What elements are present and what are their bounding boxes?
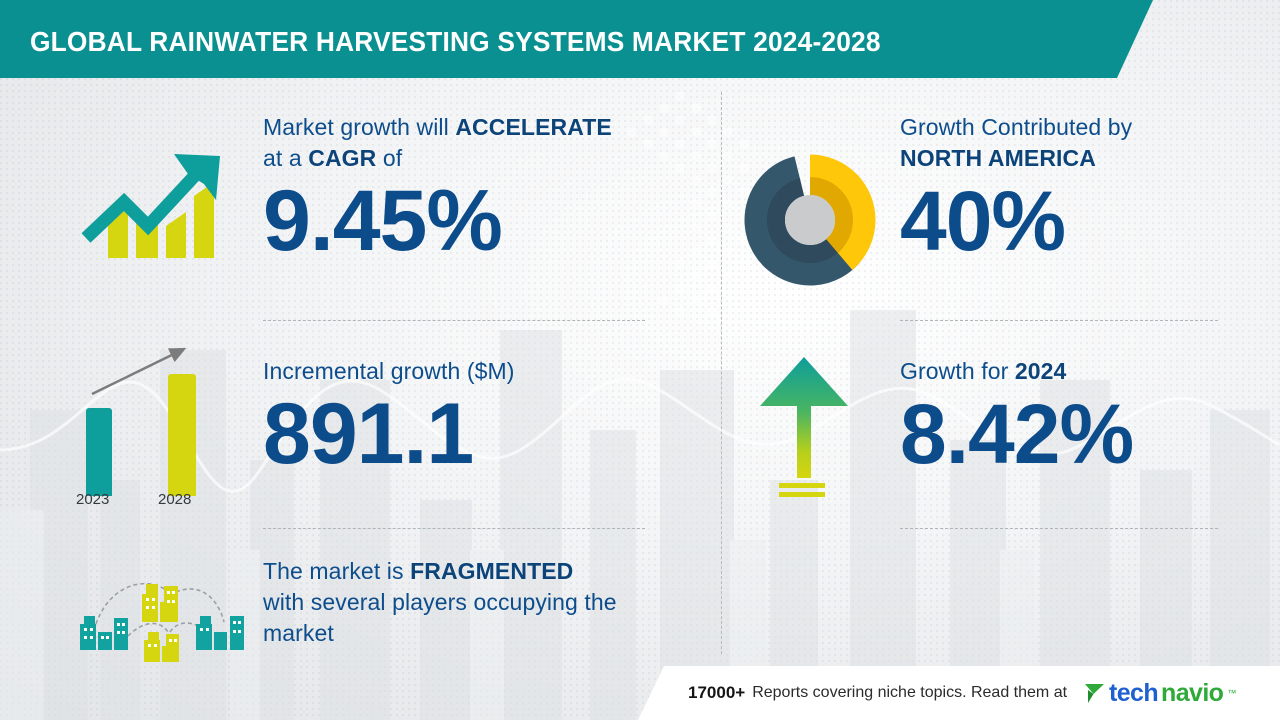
yearly-text-block: Growth for 2024 8.42% (900, 356, 1260, 479)
technavio-mark-icon (1084, 681, 1106, 705)
page-title: GLOBAL RAINWATER HARVESTING SYSTEMS MARK… (30, 26, 881, 58)
infographic-poster: GLOBAL RAINWATER HARVESTING SYSTEMS MARK… (0, 0, 1280, 720)
up-arrow-icon (752, 350, 872, 500)
cagr-label-line2-pre: at a (263, 145, 308, 171)
yearly-label-year: 2024 (1015, 358, 1067, 384)
vertical-divider (721, 92, 722, 654)
footer-report-count: 17000+ (688, 683, 745, 703)
city-cluster-icon (72, 558, 247, 663)
cagr-label: Market growth will ACCELERATE at a CAGR … (263, 112, 663, 174)
header-banner: GLOBAL RAINWATER HARVESTING SYSTEMS MARK… (0, 0, 1117, 78)
cagr-label-line2-post: of (376, 145, 402, 171)
technavio-logo[interactable]: technavio™ (1084, 681, 1236, 706)
right-column: Growth Contributed by NORTH AMERICA 40% (722, 78, 1280, 666)
fragmentation-bold: FRAGMENTED (410, 558, 573, 584)
content-area: Market growth will ACCELERATE at a CAGR … (0, 78, 1280, 666)
region-value: 40% (900, 176, 1260, 266)
bar-label-2023: 2023 (76, 491, 109, 508)
region-label: Growth Contributed by NORTH AMERICA (900, 112, 1260, 174)
fragmentation-label: The market is FRAGMENTED with several pl… (263, 556, 683, 649)
cagr-value: 9.45% (263, 176, 663, 266)
yearly-value: 8.42% (900, 389, 1260, 479)
footer: 17000+ Reports covering niche topics. Re… (0, 666, 1280, 720)
logo-text-navio: navio (1161, 681, 1223, 706)
region-label-north-america: NORTH AMERICA (900, 145, 1096, 171)
footer-text: Reports covering niche topics. Read them… (752, 684, 1067, 702)
yearly-label-pre: Growth for (900, 358, 1015, 384)
logo-text-tech: tech (1109, 681, 1158, 706)
footer-corner (638, 666, 664, 720)
fragmentation-line3: market (263, 620, 334, 646)
bar-label-2028: 2028 (158, 491, 191, 508)
growth-chart-icon (70, 130, 240, 280)
fragmentation-text-block: The market is FRAGMENTED with several pl… (263, 556, 683, 649)
banner-fold-corner (1117, 0, 1153, 78)
bar-chart-icon: 2023 2028 (60, 336, 245, 496)
left-column: Market growth will ACCELERATE at a CAGR … (0, 78, 722, 666)
cagr-label-pre: Market growth will (263, 114, 455, 140)
incremental-value: 891.1 (263, 389, 663, 479)
cagr-label-cagr: CAGR (308, 145, 376, 171)
yearly-label: Growth for 2024 (900, 356, 1260, 387)
donut-chart-icon (740, 150, 880, 290)
logo-trademark: ™ (1227, 688, 1236, 698)
region-text-block: Growth Contributed by NORTH AMERICA 40% (900, 112, 1260, 266)
incremental-label: Incremental growth ($M) (263, 356, 663, 387)
fragmentation-line1-pre: The market is (263, 558, 410, 584)
incremental-text-block: Incremental growth ($M) 891.1 (263, 356, 663, 479)
fragmentation-line2: with several players occupying the (263, 589, 617, 615)
cagr-label-accelerate: ACCELERATE (455, 114, 611, 140)
cagr-text-block: Market growth will ACCELERATE at a CAGR … (263, 112, 663, 266)
footer-content: 17000+ Reports covering niche topics. Re… (664, 666, 1280, 720)
region-label-line1: Growth Contributed by (900, 114, 1132, 140)
